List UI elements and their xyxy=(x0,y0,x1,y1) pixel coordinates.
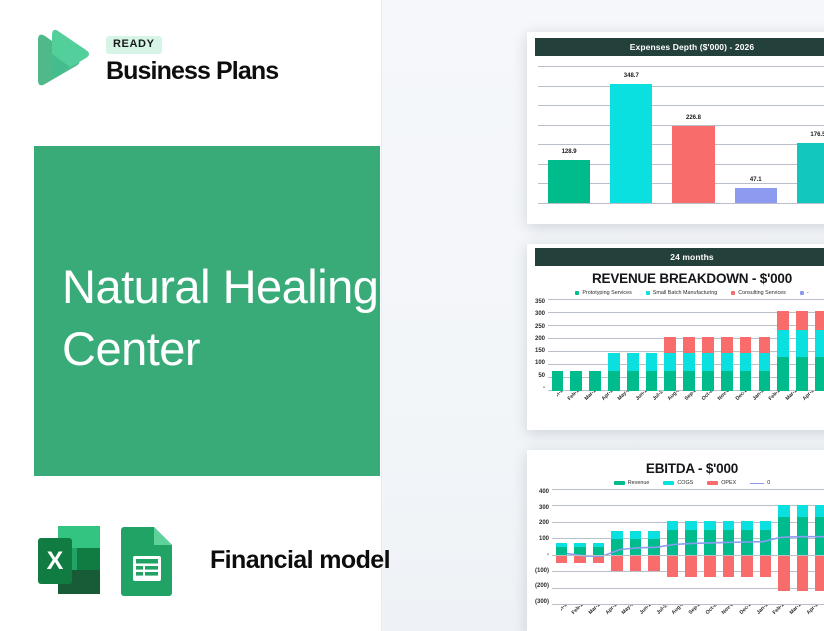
legend-color-swatch xyxy=(575,291,579,295)
legend-color-swatch xyxy=(731,291,735,295)
revenue-bar-slot xyxy=(811,311,824,391)
ebitda-y-tick: - xyxy=(547,552,549,558)
ebitda-y-tick: 400 xyxy=(539,489,549,495)
revenue-stack-segment xyxy=(777,357,789,391)
revenue-stack-segment xyxy=(702,353,714,371)
expenses-plot-area: 128.9348.7226.847.1176.5 xyxy=(538,66,824,204)
brand-text: READY Business Plans xyxy=(106,36,278,84)
revenue-stack-segment xyxy=(740,337,752,353)
revenue-stack-segment xyxy=(759,353,771,371)
revenue-legend[interactable]: Prototyping ServicesSmall Batch Manufact… xyxy=(535,288,824,299)
ebitda-positive-stack xyxy=(723,521,735,555)
ebitda-chart-title: EBITDA - $'000 xyxy=(535,456,824,478)
ebitda-stack-segment-negative xyxy=(741,555,753,577)
ebitda-stack-segment xyxy=(778,505,790,517)
revenue-y-tick: 50 xyxy=(538,373,545,379)
revenue-stack-segment xyxy=(815,357,824,391)
revenue-bar-slot xyxy=(604,353,623,391)
revenue-stacked-bar xyxy=(646,353,658,391)
revenue-stack-segment xyxy=(721,353,733,371)
ebitda-positive-stack xyxy=(574,543,586,555)
expenses-bars: 128.9348.7226.847.1176.5 xyxy=(538,66,824,204)
revenue-x-axis: Jan-26Feb-26Mar-26Apr-26May-26Jun-26Jul-… xyxy=(557,391,824,417)
ebitda-bar-slot xyxy=(775,489,794,605)
ebitda-positive-stack xyxy=(741,521,753,555)
revenue-y-tick: 150 xyxy=(535,348,545,354)
ebitda-stack-segment xyxy=(760,521,772,530)
legend-color-swatch xyxy=(707,481,718,485)
ebitda-y-tick: 100 xyxy=(539,536,549,542)
ebitda-stack-segment xyxy=(630,531,642,538)
ebitda-stack-segment xyxy=(593,547,605,555)
revenue-stacked-bar xyxy=(627,353,639,391)
ebitda-y-axis: 400300200100-(100)(200)(300) xyxy=(535,489,552,605)
ebitda-x-axis-row: Jan-26Feb-26Mar-26Apr-26May-26Jun-26Jul-… xyxy=(535,605,824,631)
slide-canvas: READY Business Plans Natural Healing Cen… xyxy=(0,0,824,631)
ebitda-bar-slot xyxy=(626,489,645,605)
ebitda-x-axis: Jan-26Feb-26Mar-26Apr-26May-26Jun-26Jul-… xyxy=(561,605,824,631)
ebitda-stack-segment-negative xyxy=(667,555,679,577)
ebitda-stack-segment-negative xyxy=(611,555,623,571)
ebitda-positive-stack xyxy=(778,505,790,556)
expenses-bar: 47.1 xyxy=(735,188,777,204)
ebitda-bar-slot xyxy=(793,489,812,605)
ebitda-bars xyxy=(552,489,824,605)
revenue-breakdown-chart-card[interactable]: 24 months REVENUE BREAKDOWN - $'000 Prot… xyxy=(527,244,824,430)
ebitda-positive-stack xyxy=(648,531,660,555)
revenue-stacked-bar xyxy=(777,311,789,391)
revenue-y-axis: 35030025020015010050- xyxy=(535,299,548,391)
expenses-bar-slot: 128.9 xyxy=(538,66,600,204)
legend-item[interactable]: COGS xyxy=(663,480,693,486)
x-tick-wrap: Apr-27 xyxy=(812,605,824,631)
revenue-bar-slot xyxy=(586,371,605,391)
legend-label: Revenue xyxy=(628,480,650,486)
revenue-chart-title: REVENUE BREAKDOWN - $'000 xyxy=(535,266,824,288)
ebitda-bar-slot xyxy=(701,489,720,605)
legend-color-swatch xyxy=(646,291,650,295)
revenue-stack-segment xyxy=(683,371,695,391)
ebitda-positive-stack xyxy=(760,521,772,555)
footer-formats: X Financial model xyxy=(36,520,390,600)
revenue-y-tick: 100 xyxy=(535,360,545,366)
ebitda-stack-segment xyxy=(741,521,753,530)
ebitda-stack-segment-negative xyxy=(648,555,660,571)
revenue-stacked-bar xyxy=(664,337,676,391)
expenses-chart-card[interactable]: Expenses Depth ($'000) - 2026 128.9348.7… xyxy=(527,32,824,224)
revenue-stack-segment xyxy=(777,330,789,358)
legend-line-swatch xyxy=(750,483,764,484)
revenue-stack-segment xyxy=(721,371,733,391)
revenue-stacked-bar xyxy=(589,371,601,391)
revenue-y-tick: 350 xyxy=(535,299,545,305)
legend-label: Prototyping Services xyxy=(582,290,631,296)
revenue-stacked-bar xyxy=(552,371,564,391)
ebitda-bar-slot xyxy=(663,489,682,605)
revenue-stack-segment xyxy=(589,371,601,391)
revenue-stack-segment xyxy=(702,337,714,353)
expenses-bar: 226.8 xyxy=(672,126,714,204)
revenue-stack-segment xyxy=(664,353,676,371)
ebitda-stack-segment xyxy=(611,531,623,538)
revenue-stack-segment xyxy=(815,330,824,358)
expenses-baseline xyxy=(538,203,824,204)
legend-label: - xyxy=(807,290,809,296)
ebitda-bar-slot xyxy=(719,489,738,605)
revenue-stack-segment xyxy=(740,353,752,371)
revenue-bar-slot xyxy=(717,337,736,391)
revenue-stack-segment xyxy=(627,371,639,391)
ebitda-positive-stack xyxy=(667,521,679,555)
ebitda-stack-segment xyxy=(704,530,716,555)
revenue-stack-segment xyxy=(627,353,639,371)
revenue-plot-area xyxy=(548,299,824,391)
expenses-bar-slot: 176.5 xyxy=(787,66,824,204)
ebitda-bar-slot xyxy=(552,489,571,605)
revenue-bar-slot xyxy=(736,337,755,391)
expenses-bar: 128.9 xyxy=(548,160,590,204)
ebitda-bar-slot xyxy=(756,489,775,605)
svg-text:X: X xyxy=(47,547,64,575)
legend-color-swatch xyxy=(614,481,625,485)
expenses-bar-slot: 226.8 xyxy=(662,66,724,204)
ebitda-plot: 400300200100-(100)(200)(300) xyxy=(535,489,824,605)
revenue-stack-segment xyxy=(664,337,676,353)
ebitda-chart-card[interactable]: EBITDA - $'000 RevenueCOGSOPEX0 40030020… xyxy=(527,450,824,631)
ebitda-positive-stack xyxy=(611,531,623,555)
legend-item[interactable]: Revenue xyxy=(614,480,650,486)
ebitda-stack-segment xyxy=(797,517,809,555)
revenue-stack-segment xyxy=(608,353,620,371)
ebitda-stack-segment-negative xyxy=(815,555,824,591)
revenue-stack-segment xyxy=(721,337,733,353)
revenue-y-tick: 200 xyxy=(535,336,545,342)
ebitda-positive-stack xyxy=(704,521,716,555)
ebitda-stack-segment-negative xyxy=(704,555,716,577)
page-title: Natural Healing Center xyxy=(62,256,452,380)
legend-label: Consulting Services xyxy=(738,290,786,296)
revenue-x-axis-row: Jan-26Feb-26Mar-26Apr-26May-26Jun-26Jul-… xyxy=(535,391,824,417)
ebitda-bar-slot xyxy=(571,489,590,605)
revenue-x-axis-spacer xyxy=(535,391,557,417)
legend-item[interactable]: Small Batch Manufacturing xyxy=(646,290,717,296)
ebitda-zero-baseline xyxy=(552,555,824,556)
ebitda-stack-segment xyxy=(630,539,642,556)
ebitda-stack-segment xyxy=(797,505,809,517)
revenue-stack-segment xyxy=(683,337,695,353)
ready-badge: READY xyxy=(106,36,162,54)
ebitda-stack-segment-negative xyxy=(723,555,735,577)
brand-name: Business Plans xyxy=(106,58,278,84)
ebitda-positive-stack xyxy=(556,543,568,555)
revenue-bar-slot xyxy=(680,337,699,391)
ebitda-legend[interactable]: RevenueCOGSOPEX0 xyxy=(535,478,824,489)
expenses-bar-slot: 47.1 xyxy=(725,66,787,204)
ebitda-stack-segment xyxy=(760,530,772,555)
revenue-stack-segment xyxy=(702,371,714,391)
legend-color-swatch xyxy=(800,291,804,295)
ebitda-positive-stack xyxy=(630,531,642,555)
expenses-bar-value-label: 176.5 xyxy=(810,132,824,138)
ebitda-bar-slot xyxy=(645,489,664,605)
legend-item[interactable]: OPEX xyxy=(707,480,736,486)
revenue-bar-slot xyxy=(699,337,718,391)
ebitda-y-tick: (200) xyxy=(535,583,549,589)
revenue-stacked-bar xyxy=(796,311,808,391)
ebitda-stack-segment-negative xyxy=(574,555,586,562)
revenue-stack-segment xyxy=(646,353,658,371)
legend-label: 0 xyxy=(767,480,770,486)
legend-label: Small Batch Manufacturing xyxy=(653,290,717,296)
expenses-bar-value-label: 226.8 xyxy=(686,115,701,121)
revenue-stack-segment xyxy=(777,311,789,330)
revenue-stack-segment xyxy=(740,371,752,391)
revenue-stack-segment xyxy=(759,337,771,353)
ebitda-plot-area xyxy=(552,489,824,605)
ebitda-stack-segment-negative xyxy=(797,555,809,591)
ebitda-stack-segment xyxy=(815,505,824,517)
ebitda-stack-segment xyxy=(815,517,824,555)
revenue-header-band: 24 months xyxy=(535,248,824,266)
revenue-bar-slot xyxy=(755,337,774,391)
legend-item[interactable]: - xyxy=(800,290,809,296)
play-triangle-logo-icon xyxy=(30,28,92,92)
ebitda-x-axis-spacer xyxy=(535,605,561,631)
ebitda-bar-slot xyxy=(812,489,824,605)
revenue-bar-slot xyxy=(774,311,793,391)
ebitda-stack-segment-negative xyxy=(593,555,605,562)
revenue-stacked-bar xyxy=(740,337,752,391)
ebitda-positive-stack xyxy=(593,543,605,555)
ebitda-positive-stack xyxy=(797,505,809,556)
revenue-bar-slot xyxy=(793,311,812,391)
ebitda-stack-segment xyxy=(574,547,586,555)
ebitda-stack-segment xyxy=(611,539,623,556)
ebitda-stack-segment xyxy=(685,530,697,555)
revenue-stack-segment xyxy=(815,311,824,330)
ebitda-stack-segment xyxy=(778,517,790,555)
ebitda-positive-stack xyxy=(685,521,697,555)
revenue-bar-slot xyxy=(642,353,661,391)
ebitda-y-tick: 200 xyxy=(539,520,549,526)
revenue-bar-slot xyxy=(661,337,680,391)
legend-item[interactable]: 0 xyxy=(750,480,770,486)
revenue-y-tick: 250 xyxy=(535,324,545,330)
google-sheets-file-icon xyxy=(120,520,186,600)
expenses-bar-value-label: 47.1 xyxy=(750,177,762,183)
legend-item[interactable]: Prototyping Services xyxy=(575,290,631,296)
revenue-stacked-bar xyxy=(683,337,695,391)
expenses-bar-slot: 348.7 xyxy=(600,66,662,204)
revenue-stacked-bar xyxy=(815,311,824,391)
revenue-stack-segment xyxy=(646,371,658,391)
ebitda-bar-slot xyxy=(589,489,608,605)
ebitda-stack-segment xyxy=(648,531,660,538)
ebitda-stack-segment-negative xyxy=(778,555,790,591)
ebitda-stack-segment-negative xyxy=(760,555,772,577)
expenses-bar-value-label: 348.7 xyxy=(624,73,639,79)
legend-label: COGS xyxy=(677,480,693,486)
revenue-stack-segment xyxy=(570,371,582,391)
ebitda-y-tick: (100) xyxy=(535,568,549,574)
expenses-bar: 176.5 xyxy=(797,143,824,204)
expenses-bar-value-label: 128.9 xyxy=(562,149,577,155)
ebitda-stack-segment xyxy=(648,539,660,556)
ebitda-stack-segment-negative xyxy=(556,555,568,562)
ebitda-stack-segment xyxy=(685,521,697,530)
revenue-stacked-bar xyxy=(721,337,733,391)
revenue-stacked-bar xyxy=(759,337,771,391)
revenue-stacked-bar xyxy=(608,353,620,391)
revenue-stacked-bar xyxy=(702,337,714,391)
revenue-bar-slot xyxy=(548,371,567,391)
revenue-bars xyxy=(548,299,824,391)
revenue-bar-slot xyxy=(623,353,642,391)
ebitda-stack-segment xyxy=(556,547,568,555)
revenue-stack-segment xyxy=(683,353,695,371)
ebitda-stack-segment-negative xyxy=(630,555,642,571)
revenue-stack-segment xyxy=(796,357,808,391)
revenue-y-tick: 300 xyxy=(535,311,545,317)
revenue-plot: 35030025020015010050- xyxy=(535,299,824,391)
ebitda-stack-segment xyxy=(741,530,753,555)
revenue-stacked-bar xyxy=(570,371,582,391)
brand-lockup: READY Business Plans xyxy=(30,28,278,92)
ebitda-bar-slot xyxy=(682,489,701,605)
x-tick-wrap: Apr-27 xyxy=(808,391,824,417)
revenue-stack-segment xyxy=(759,371,771,391)
excel-file-icon: X xyxy=(36,520,102,600)
revenue-stack-segment xyxy=(664,371,676,391)
revenue-stack-segment xyxy=(552,371,564,391)
revenue-stack-segment xyxy=(796,311,808,330)
expenses-plot: 128.9348.7226.847.1176.5 xyxy=(535,56,824,204)
ebitda-stack-segment xyxy=(667,530,679,555)
ebitda-stack-segment-negative xyxy=(685,555,697,577)
ebitda-positive-stack xyxy=(815,505,824,556)
legend-item[interactable]: Consulting Services xyxy=(731,290,786,296)
revenue-stack-segment xyxy=(796,330,808,358)
legend-label: OPEX xyxy=(721,480,736,486)
ebitda-stack-segment xyxy=(704,521,716,530)
revenue-bar-slot xyxy=(567,371,586,391)
revenue-stack-segment xyxy=(608,371,620,391)
ebitda-stack-segment xyxy=(723,521,735,530)
ebitda-stack-segment xyxy=(667,521,679,530)
expenses-chart-title: Expenses Depth ($'000) - 2026 xyxy=(535,38,824,56)
legend-color-swatch xyxy=(663,481,674,485)
footer-label: Financial model xyxy=(210,546,390,575)
ebitda-bar-slot xyxy=(608,489,627,605)
ebitda-bar-slot xyxy=(738,489,757,605)
expenses-bar: 348.7 xyxy=(610,84,652,204)
ebitda-stack-segment xyxy=(723,530,735,555)
ebitda-y-tick: 300 xyxy=(539,505,549,511)
